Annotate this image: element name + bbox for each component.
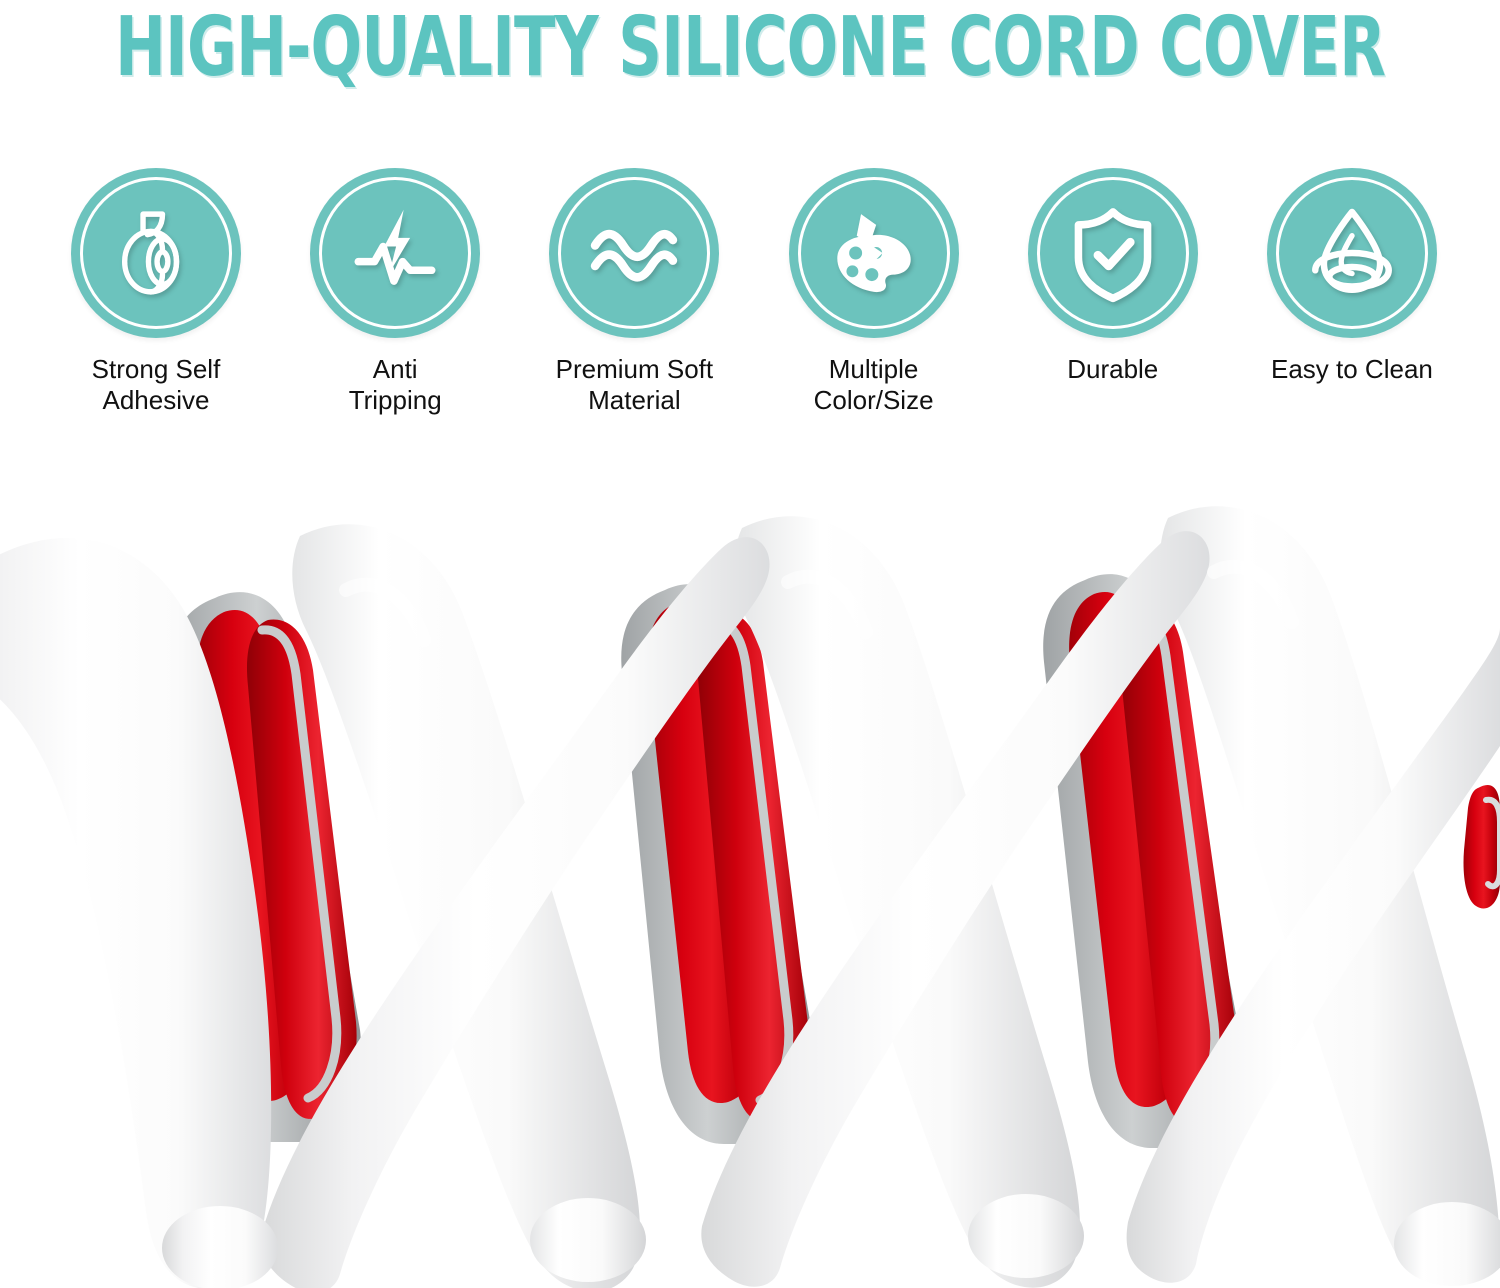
shield-check-icon — [1059, 199, 1167, 307]
feature-badge — [549, 168, 719, 338]
feature-item-premium-soft-material: Premium Soft Material — [536, 168, 732, 416]
wavy-lines-icon — [580, 199, 688, 307]
product-infographic: HIGH-QUALITY SILICONE CORD COVER Strong … — [0, 0, 1500, 1288]
feature-item-durable: Durable — [1015, 168, 1211, 385]
feature-label: Anti Tripping — [349, 354, 442, 416]
feature-badge — [71, 168, 241, 338]
feature-list: Strong Self Adhesive Anti Tripping — [58, 168, 1450, 438]
paint-palette-icon — [820, 199, 928, 307]
feature-label: Easy to Clean — [1271, 354, 1433, 385]
tape-roll-icon — [102, 199, 210, 307]
feature-badge — [1267, 168, 1437, 338]
page-title-text: HIGH-QUALITY SILICONE CORD COVER — [115, 7, 1385, 89]
lightning-pulse-icon — [341, 199, 449, 307]
feature-label: Multiple Color/Size — [814, 354, 934, 416]
feature-item-anti-tripping: Anti Tripping — [297, 168, 493, 416]
feature-item-easy-to-clean: Easy to Clean — [1254, 168, 1450, 385]
product-image — [0, 470, 1500, 1288]
coil-inner-4-edge — [1464, 785, 1500, 909]
silicone-cord-coil-illustration — [0, 470, 1500, 1288]
feature-label: Durable — [1067, 354, 1158, 385]
page-title: HIGH-QUALITY SILICONE CORD COVER — [0, 0, 1500, 96]
water-drop-icon — [1298, 199, 1406, 307]
feature-badge — [789, 168, 959, 338]
feature-item-multiple-color-size: Multiple Color/Size — [776, 168, 972, 416]
feature-badge — [1028, 168, 1198, 338]
feature-label: Strong Self Adhesive — [92, 354, 221, 416]
feature-label: Premium Soft Material — [556, 354, 714, 416]
feature-badge — [310, 168, 480, 338]
feature-item-strong-self-adhesive: Strong Self Adhesive — [58, 168, 254, 416]
